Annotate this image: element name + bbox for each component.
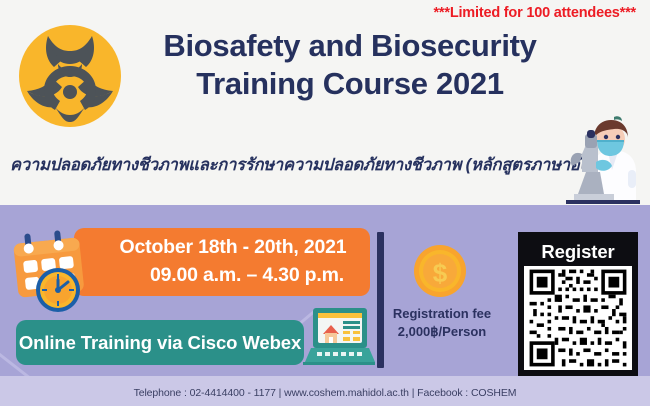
register-label: Register [524, 238, 632, 266]
delivery-mode-label: Online Training via Cisco Webex [19, 332, 301, 354]
schedule-card: October 18th - 20th, 2021 09.00 a.m. – 4… [74, 228, 370, 296]
gold-coin-dollar-icon: $ [412, 243, 468, 299]
delivery-mode-card: Online Training via Cisco Webex [16, 320, 304, 365]
poster-canvas: ***Limited for 100 attendees*** [0, 0, 650, 406]
qr-code-icon[interactable] [524, 266, 632, 370]
schedule-time: 09.00 a.m. – 4.30 p.m. [150, 262, 344, 290]
header-section: ***Limited for 100 attendees*** [0, 0, 650, 205]
scientist-with-microscope-icon [552, 108, 648, 208]
schedule-dates: October 18th - 20th, 2021 [120, 234, 347, 262]
laptop-browser-icon [303, 306, 375, 368]
register-panel[interactable]: Register [518, 232, 638, 376]
title-line-1: Biosafety and Biosecurity [132, 27, 568, 65]
registration-fee: Registration fee 2,000฿/Person [386, 305, 498, 342]
title-line-2: Training Course 2021 [132, 65, 568, 103]
thai-subtitle: ความปลอดภัยทางชีวภาพและการรักษาความปลอดภ… [10, 152, 588, 178]
fee-amount: 2,000฿/Person [386, 323, 498, 341]
footer-contact-text: Telephone : 02-4414400 - 1177 | www.cosh… [0, 387, 650, 399]
svg-text:$: $ [433, 258, 448, 288]
limited-attendees-notice: ***Limited for 100 attendees*** [433, 5, 636, 21]
vertical-divider [377, 232, 384, 368]
fee-label: Registration fee [386, 305, 498, 323]
page-title: Biosafety and Biosecurity Training Cours… [132, 27, 568, 104]
calendar-clock-icon [6, 224, 102, 314]
biohazard-icon [14, 20, 126, 132]
